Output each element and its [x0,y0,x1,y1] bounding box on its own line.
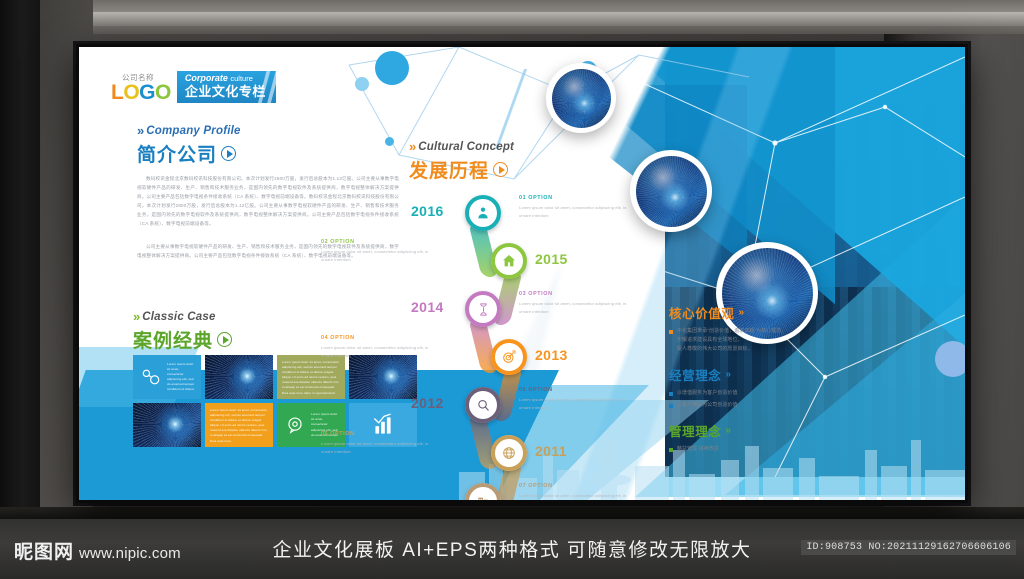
deco-dot-small [355,77,369,91]
value-item-text: 精益管理 持续改进 [677,445,719,454]
timeline-option-title: 02 OPTION [321,239,431,245]
timeline-option-title: 05 OPTION [519,387,637,393]
timeline-option-desc: Lorem ipsum dolor sit amet, consectetur … [519,300,637,317]
case-tile[interactable] [133,403,201,447]
case-tile[interactable] [205,355,273,399]
case-tile-text: Lorem ipsum dolor sit amet, consectetur … [277,355,345,399]
double-arrow-icon: » [725,369,729,380]
timeline-option-title: 03 OPTION [519,291,637,297]
section-classic-case-heading: » Classic Case 案例经典 [133,309,232,353]
value-statements-column: 核心价值观 » 中化集团秉承“创造价值，追求卓越”为核心理念。 不懈追求建设具有… [669,303,859,465]
timeline-node[interactable] [491,339,527,375]
value-group: 核心价值观 » 中化集团秉承“创造价值，追求卓越”为核心理念。 不懈追求建设具有… [669,303,859,354]
timeline-year: 2013 [535,347,568,363]
timeline-option-desc: Lorem ipsum dolor sit amet, consectetur … [321,344,431,361]
case-tile[interactable]: Lorem ipsum dolor sit amet, consectetur … [133,355,201,399]
chat-bubble-icon [284,414,306,436]
case-tile[interactable] [349,355,417,399]
poster-frame: 公司名称 LOGO Corporate culture 企业文化专栏 » Com… [76,44,968,503]
development-timeline: 2016 01 OPTION Lorem ipsum dolor sit ame… [409,195,599,495]
asset-id-badge: ID:908753 NO:20211129162706606106 [801,540,1016,555]
profile-paragraph-1: 数码校讯金程北京数码校讯科技股份有限公司。本次计划发行2800万股，发行后总股本… [137,175,399,229]
bullet-icon [669,392,673,396]
value-group-title: 经营理念 » [669,365,859,384]
classic-case-cn: 案例经典 [133,326,232,353]
person-icon [475,205,491,221]
timeline-year: 2012 [411,395,444,411]
ceiling-trim [44,12,1024,26]
chevron-icon: » [137,123,141,138]
timeline-node[interactable] [491,243,527,279]
chevron-icon: » [133,309,137,324]
double-arrow-icon: » [739,307,743,318]
tech-sphere-middle [630,150,712,232]
hourglass-icon [476,302,491,317]
value-group: 管理理念 » 精益管理 持续改进 [669,421,859,454]
play-icon[interactable] [217,332,232,347]
value-group-title: 核心价值观 » [669,303,859,322]
globe-icon [501,445,517,461]
timeline-node[interactable] [491,435,527,471]
company-profile-en: » Company Profile [137,123,241,138]
timeline-node[interactable] [465,291,501,327]
timeline-option-desc: Lorem ipsum dolor sit amet, consectetur … [321,440,431,457]
timeline-year: 2016 [411,203,444,219]
case-tile-text: Lorem ipsum dolor sit amet, consectetur … [205,403,273,447]
timeline-node[interactable] [465,387,501,423]
logo-letter-l: L [111,81,123,104]
timeline-node[interactable] [465,195,501,231]
value-group: 经营理念 » 以增值服务为客户创造价值 以客户满意为公司创造价值 [669,365,859,410]
timeline-option-title: 07 OPTION [519,483,637,489]
timeline-option: 06 OPTION Lorem ipsum dolor sit amet, co… [321,431,431,456]
wall-left [0,0,40,519]
play-icon[interactable] [493,162,508,177]
company-profile-cn: 简介公司 [137,140,241,167]
cultural-concept-en: » Cultural Concept [409,139,514,154]
logo-mark: 公司名称 LOGO [111,74,171,104]
value-item-text: 以客户满意为公司创造价值 [677,401,738,410]
brand-logo-bar[interactable]: 公司名称 LOGO Corporate culture 企业文化专栏 [111,71,276,103]
timeline-option-desc: Lorem ipsum dolor sit amet, consectetur … [519,396,637,413]
badge-slash-decor [479,69,549,149]
section-company-profile-heading: » Company Profile 简介公司 [137,123,241,167]
value-group-title: 管理理念 » [669,421,859,440]
value-item-text: 中化集团秉承“创造价值，追求卓越”为核心理念。 不懈追求建设具有全球地位、 受人… [677,327,786,354]
deco-dot-large [375,51,409,85]
case-tile[interactable]: Lorem ipsum dolor sit amet, consectetur … [277,355,345,399]
value-list-item: 中化集团秉承“创造价值，追求卓越”为核心理念。 不懈追求建设具有全球地位、 受人… [669,327,859,354]
sphere-orb [636,156,707,227]
poster-canvas: 公司名称 LOGO Corporate culture 企业文化专栏 » Com… [79,47,965,500]
logo-letter-o1: O [123,81,139,104]
case-tile[interactable]: Lorem ipsum dolor sit amet, consectetur … [205,403,273,447]
badge-chinese-title: 企业文化专栏 [185,84,266,100]
play-icon[interactable] [221,146,236,161]
deco-dot-right [935,341,965,377]
caption-bar: 昵图网 www.nipic.com 企业文化展板 AI+EPS两种格式 可随意修… [0,519,1024,579]
timeline-option-desc: Lorem ipsum dolor sit amet, consectetur … [519,204,637,221]
network-node-icon [140,366,162,388]
timeline-option: 03 OPTION Lorem ipsum dolor sit amet, co… [519,291,637,316]
chevron-icon: » [409,139,413,154]
timeline-option: 07 OPTION Lorem ipsum dolor sit amet, co… [519,483,637,500]
cultural-concept-cn: 发展历程 [409,156,514,183]
timeline-option-desc: Lorem ipsum dolor sit amet, consectetur … [519,492,637,501]
home-icon [501,253,517,269]
timeline-option: 05 OPTION Lorem ipsum dolor sit amet, co… [519,387,637,412]
deco-dot-tiny [385,137,394,146]
double-arrow-icon: » [725,425,729,436]
bullet-icon [669,330,673,334]
value-list-item: 精益管理 持续改进 [669,445,859,454]
timeline-year: 2011 [535,443,567,459]
logo-letter-o2: O [155,81,171,104]
timeline-node[interactable] [465,483,501,500]
section-cultural-concept-heading: » Cultural Concept 发展历程 [409,139,514,183]
target-icon [501,349,517,365]
badge-english-title: Corporate culture [185,74,266,84]
magnifier-icon [476,398,491,413]
timeline-option: 04 OPTION Lorem ipsum dolor sit amet, co… [321,335,431,360]
logo-letter-g: G [139,81,155,104]
timeline-year: 2015 [535,251,568,267]
logo-company-label: 公司名称 [122,74,171,82]
timeline-option-title: 04 OPTION [321,335,431,341]
tech-sphere-top [546,63,616,133]
timeline-option-title: 01 OPTION [519,195,637,201]
corporate-culture-badge[interactable]: Corporate culture 企业文化专栏 [177,71,276,103]
timeline-option-desc: Lorem ipsum dolor sit amet, consectetur … [321,248,431,265]
timeline-option-title: 06 OPTION [321,431,431,437]
bullet-icon [669,448,673,452]
building-icon [475,493,491,500]
value-list-item: 以增值服务为客户创造价值 [669,389,859,398]
value-item-text: 以增值服务为客户创造价值 [677,389,738,398]
floor-line [0,507,1024,519]
bullet-icon [669,404,673,408]
timeline-option: 02 OPTION Lorem ipsum dolor sit amet, co… [321,239,431,264]
timeline-option: 01 OPTION Lorem ipsum dolor sit amet, co… [519,195,637,220]
value-list-item: 以客户满意为公司创造价值 [669,401,859,410]
sphere-orb [552,69,611,128]
classic-case-en: » Classic Case [133,309,232,324]
logo-wordmark: LOGO [111,82,171,103]
timeline-year: 2014 [411,299,444,315]
case-tile-text: Lorem ipsum dolor sit amet, consectetur … [162,357,201,398]
